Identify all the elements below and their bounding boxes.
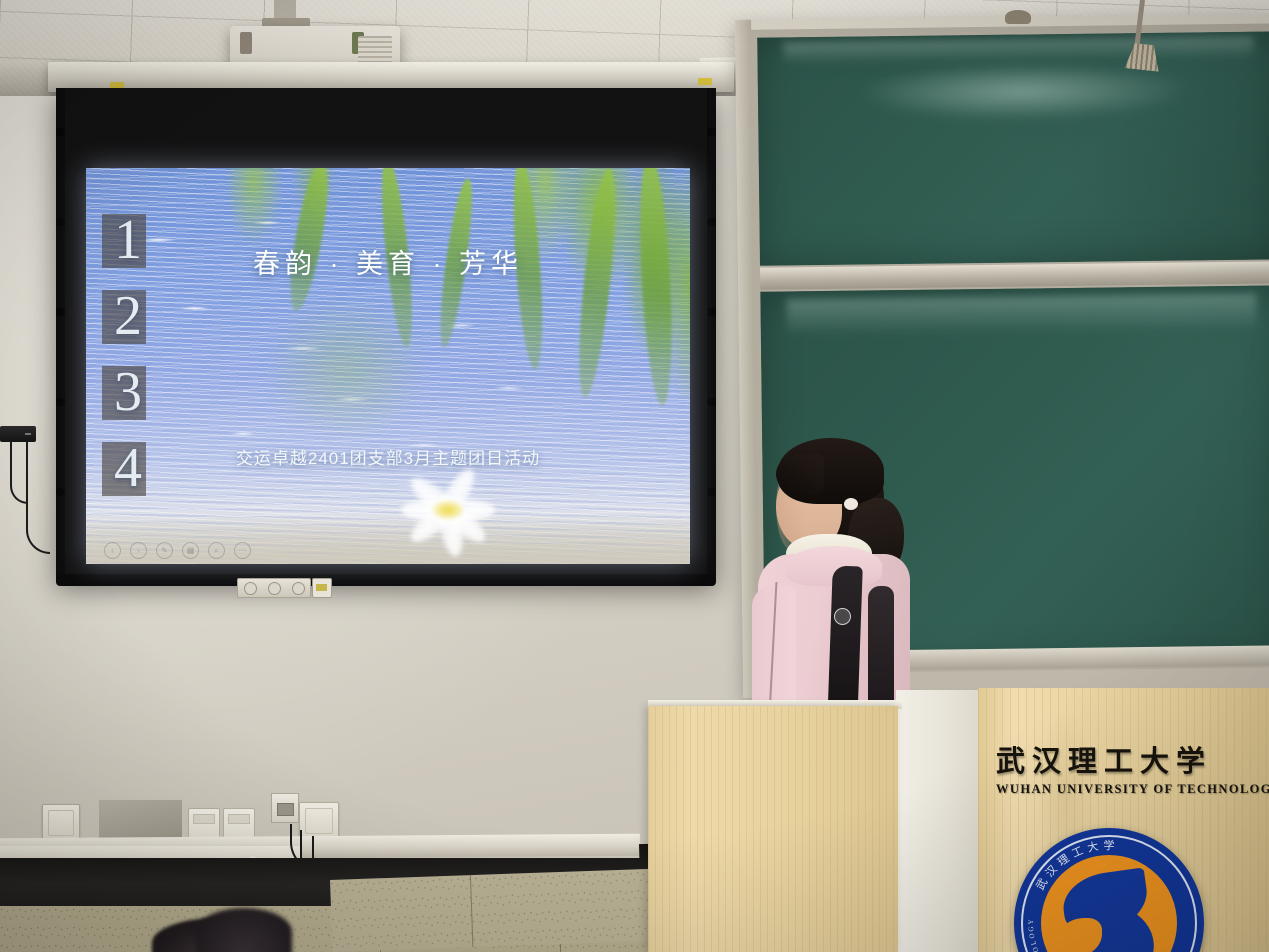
podium-side-panel	[648, 706, 898, 952]
slides-grid-icon[interactable]: ▦	[182, 542, 199, 559]
power-outlet-left[interactable]	[42, 804, 80, 842]
next-slide-icon[interactable]: ›	[130, 542, 147, 559]
slide-section-number-item: 3	[102, 362, 160, 438]
chalkboard-top-panel	[757, 31, 1269, 265]
emblem-bird-mark	[1055, 866, 1164, 952]
slide-daisy-flower	[373, 472, 523, 548]
housing-warning-sticker-right	[698, 78, 712, 85]
presenter-hair-tie	[844, 498, 858, 510]
screen-down-button[interactable]	[292, 582, 305, 595]
slide-subtitle: 交运卓越2401团支部3月主题团日活动	[86, 444, 690, 469]
more-options-icon[interactable]: ⋯	[234, 542, 251, 559]
university-name-english: WUHAN UNIVERSITY OF TECHNOLOGY	[996, 782, 1269, 797]
pen-icon[interactable]: ✎	[156, 542, 173, 559]
powerpoint-presenter-toolbar[interactable]: ‹ › ✎ ▦ ⌕ ⋯	[104, 542, 251, 559]
projection-screen: 1 2 3 4 春韵 · 美育 · 芳华 交运卓越2401团支部3月主题团日活动…	[56, 88, 716, 580]
podium-side-wood-grain	[648, 706, 898, 952]
screen-control-port[interactable]	[312, 578, 332, 598]
presenter-hair-fringe	[776, 454, 824, 494]
hanging-cable-2	[26, 442, 50, 554]
screen-stop-button[interactable]	[268, 582, 281, 595]
screen-edge-left	[56, 88, 65, 580]
screen-bottom-weight-bar	[56, 574, 716, 586]
university-name-chinese: 武汉理工大学	[996, 738, 1212, 780]
section-number-3: 3	[114, 356, 142, 428]
jacket-logo-icon	[834, 608, 851, 625]
screen-control-panel[interactable]	[237, 578, 311, 598]
screen-edge-right	[707, 88, 716, 580]
podium-divider	[896, 690, 982, 952]
lamp-ceiling-base	[1005, 10, 1031, 24]
classroom-photo-scene: DAR3	[0, 0, 1269, 952]
university-emblem: 武汉理工大学WUHAN UNIVERSITY OF TECHNOLOGY	[1014, 828, 1204, 952]
projected-slide: 1 2 3 4 春韵 · 美育 · 芳华 交运卓越2401团支部3月主题团日活动…	[86, 168, 690, 564]
screen-up-button[interactable]	[244, 582, 257, 595]
prev-slide-icon[interactable]: ‹	[104, 542, 121, 559]
daisy-center	[433, 501, 463, 519]
projector-side-grip-left	[240, 32, 252, 54]
slide-section-number-item: 2	[102, 286, 160, 362]
network-junction-box[interactable]	[271, 793, 299, 823]
wall-mounted-device	[0, 426, 36, 442]
zoom-icon[interactable]: ⌕	[208, 542, 225, 559]
slide-title: 春韵 · 美育 · 芳华	[86, 242, 690, 281]
foreground-student-head-2	[196, 908, 292, 952]
presenter	[752, 436, 922, 726]
section-number-2: 2	[114, 280, 142, 352]
emblem-core	[1041, 855, 1177, 952]
willow-branches-top	[174, 168, 374, 310]
